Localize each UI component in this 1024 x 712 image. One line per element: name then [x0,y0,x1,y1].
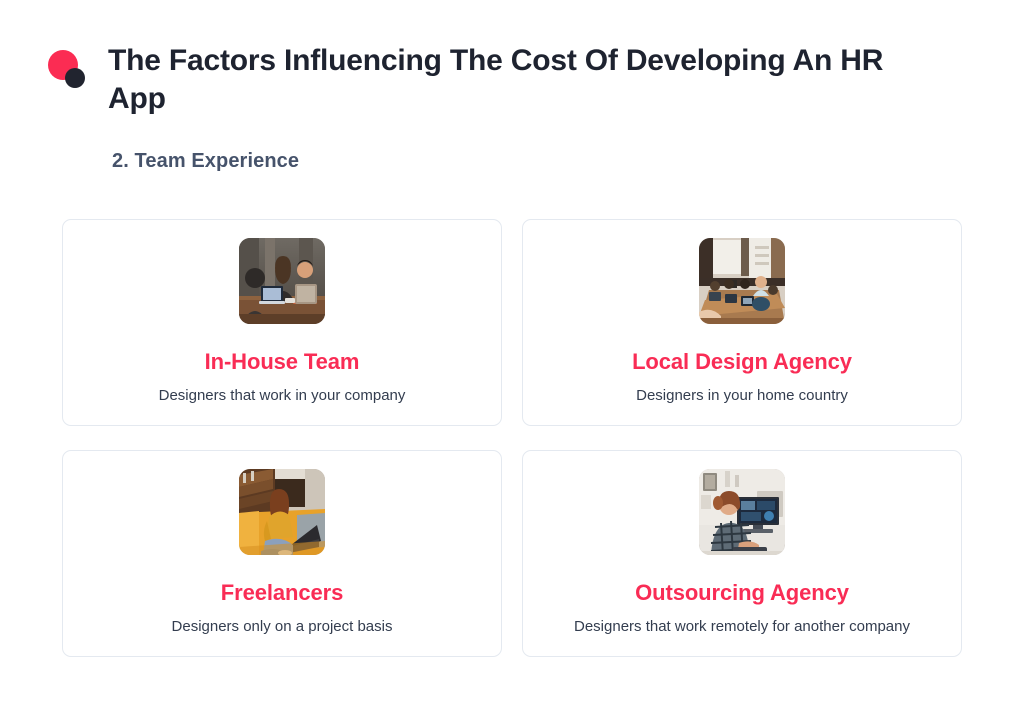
card-outsourcing-agency[interactable]: Outsourcing Agency Designers that work r… [522,450,962,657]
section-subtitle: 2. Team Experience [112,147,299,175]
slide-canvas: The Factors Influencing The Cost Of Deve… [0,0,1024,712]
photo-woman-yellow-sweater-sofa-laptop-icon [239,469,325,555]
team-option-grid: In-House Team Designers that work in you… [62,219,962,657]
title-block: The Factors Influencing The Cost Of Deve… [108,42,908,118]
logo-circle-secondary-icon [65,68,85,88]
card-title: In-House Team [205,348,360,376]
card-title: Freelancers [221,579,343,607]
card-freelancers[interactable]: Freelancers Designers only on a project … [62,450,502,657]
photo-person-plaid-shirt-desktop-monitor-icon [699,469,785,555]
card-description: Designers only on a project basis [158,616,407,637]
card-title: Local Design Agency [632,348,852,376]
card-description: Designers in your home country [622,385,862,406]
photo-team-meeting-laptops-icon [239,238,325,324]
card-local-design-agency[interactable]: Local Design Agency Designers in your ho… [522,219,962,426]
card-description: Designers that work remotely for another… [560,616,924,637]
brand-logo [48,46,94,94]
photo-conference-room-workshop-icon [699,238,785,324]
card-description: Designers that work in your company [145,385,420,406]
card-in-house-team[interactable]: In-House Team Designers that work in you… [62,219,502,426]
card-title: Outsourcing Agency [635,579,849,607]
slide-header: The Factors Influencing The Cost Of Deve… [48,42,968,118]
page-title: The Factors Influencing The Cost Of Deve… [108,42,908,118]
